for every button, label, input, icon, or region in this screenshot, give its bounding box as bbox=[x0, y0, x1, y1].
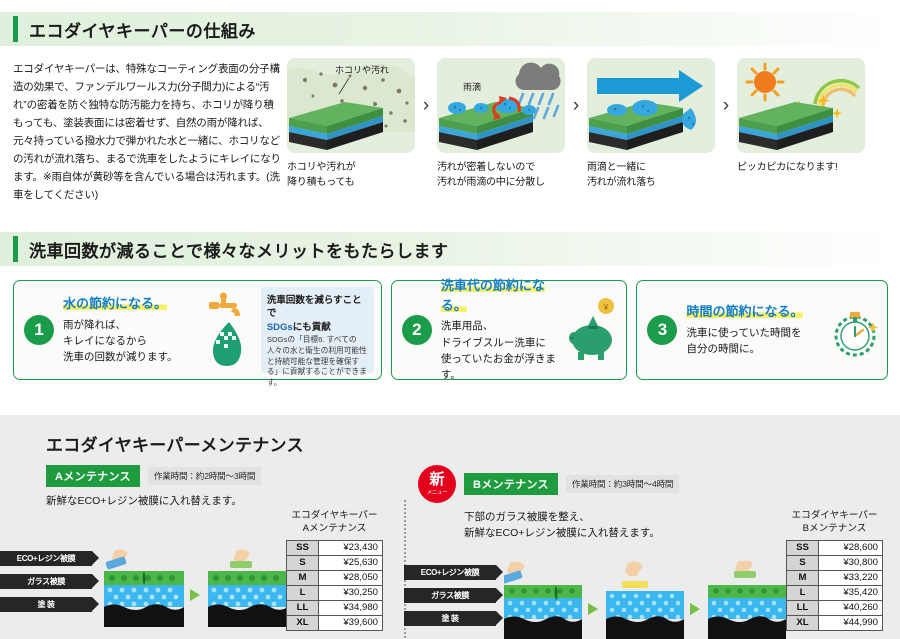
stage-1 bbox=[104, 549, 184, 627]
step-1-caption-line2: 降り積もっても bbox=[287, 175, 415, 190]
step-1-caption: ホコリや汚れが 降り積もっても bbox=[287, 160, 415, 190]
step-4-caption-line1: ピッカピカになります! bbox=[737, 160, 865, 175]
price-cell: ¥23,430 bbox=[319, 540, 383, 555]
maintenance-a-layer-labels: ECO+レジン被膜 ガラス被膜 塗 装 bbox=[0, 551, 92, 620]
maintenance-column-a: Aメンテナンス 作業時間：約2時間～3時間 新鮮なECO+レジン被膜に入れ替えま… bbox=[0, 465, 404, 542]
merit-1-content: 水の節約になる。 雨が降れば、 キレイになるから 洗車の回数が減ります。 bbox=[63, 294, 203, 365]
faucet-icon bbox=[209, 293, 240, 317]
mechanism-body: エコダイヤキーパーは、特殊なコーティング表面の分子構造の効果で、ファンデルワール… bbox=[0, 46, 900, 204]
merit-3-title: 時間の節約になる。 bbox=[686, 304, 803, 319]
layer-label-paint: 塗 装 bbox=[404, 611, 496, 626]
size-cell: XL bbox=[787, 615, 819, 630]
table-row: S¥25,630 bbox=[287, 555, 383, 570]
maintenance-a-diagram bbox=[104, 549, 294, 627]
sdg-body: SDGsの「目標6. すべての人々の水と衛生の利用可能性と持続可能な管理を確保す… bbox=[267, 335, 368, 388]
sdg-callout-box: 洗車回数を減らすことで SDGsにも貢献 SDGsの「目標6. すべての人々の水… bbox=[261, 287, 374, 373]
merits-section: 洗車回数が減ることで様々なメリットをもたらします 1 水の節約になる。 雨が降れ… bbox=[0, 232, 900, 380]
table-row: L¥35,420 bbox=[787, 585, 883, 600]
size-cell: XL bbox=[287, 615, 319, 630]
step-3-caption-line2: 汚れが流れ落ち bbox=[587, 175, 715, 190]
price-cell: ¥34,980 bbox=[319, 600, 383, 615]
table-row: L¥30,250 bbox=[287, 585, 383, 600]
step-4-illustration bbox=[737, 58, 865, 153]
table-row: S¥30,800 bbox=[787, 555, 883, 570]
step-2-caption-line2: 汚れが雨滴の中に分散し bbox=[437, 175, 565, 190]
price-cell: ¥33,220 bbox=[819, 570, 883, 585]
piggy-bank-icon: ¥ bbox=[568, 292, 620, 368]
piggy-body bbox=[569, 316, 612, 360]
price-cell: ¥28,050 bbox=[319, 570, 383, 585]
size-cell: S bbox=[287, 555, 319, 570]
step-1-illustration: ホコリや汚れ bbox=[287, 58, 415, 153]
maintenance-columns: Aメンテナンス 作業時間：約2時間～3時間 新鮮なECO+レジン被膜に入れ替えま… bbox=[0, 456, 900, 542]
rainbow-icon bbox=[815, 81, 859, 108]
chevron-right-icon-3: › bbox=[715, 58, 737, 153]
merit-1-line-1: 雨が降れば、 bbox=[63, 317, 203, 333]
sdg-headline-rest: にも貢献 bbox=[293, 322, 331, 333]
merit-2-title: 洗車代の節約になる。 bbox=[441, 278, 545, 313]
price-table-b-title: エコダイヤキーパー Bメンテナンス bbox=[786, 509, 883, 536]
maintenance-b-tag: Bメンテナンス bbox=[464, 473, 558, 495]
price-table-b-wrap: エコダイヤキーパー Bメンテナンス SS¥28,600 S¥30,800 M¥3… bbox=[786, 509, 883, 631]
mechanism-step-2: 雨滴 汚れが密着しないので 汚れが雨滴の中に分散し bbox=[437, 58, 565, 190]
stage-2 bbox=[606, 562, 684, 639]
size-cell: M bbox=[287, 570, 319, 585]
table-row: SS¥23,430 bbox=[287, 540, 383, 555]
maintenance-b-header: 新 メニュー Bメンテナンス 作業時間：約3時間～4時間 bbox=[418, 465, 900, 503]
stopwatch-icon bbox=[829, 292, 881, 368]
maintenance-section: エコダイヤキーパーメンテナンス Aメンテナンス 作業時間：約2時間～3時間 新鮮… bbox=[0, 415, 900, 639]
step-2-illustration: 雨滴 bbox=[437, 58, 565, 153]
price-cell: ¥30,250 bbox=[319, 585, 383, 600]
price-table-b-title-line1: エコダイヤキーパー bbox=[786, 509, 883, 522]
layer-label-glass: ガラス被膜 bbox=[404, 588, 496, 603]
merit-2-line-3: 使っていたお金が浮きます。 bbox=[441, 351, 569, 384]
price-cell: ¥28,600 bbox=[819, 540, 883, 555]
stage-2 bbox=[208, 549, 288, 627]
merit-2-line-1: 洗車用品、 bbox=[441, 318, 569, 334]
maintenance-b-diagram bbox=[504, 561, 794, 639]
new-badge-sub: メニュー bbox=[427, 488, 447, 496]
merit-1-line-2: キレイになるから bbox=[63, 333, 203, 349]
size-cell: LL bbox=[787, 600, 819, 615]
price-table-a-wrap: エコダイヤキーパー Aメンテナンス SS¥23,430 S¥25,630 M¥2… bbox=[286, 509, 383, 631]
size-cell: M bbox=[787, 570, 819, 585]
size-cell: S bbox=[787, 555, 819, 570]
mechanism-step-4: ピッカピカになります! bbox=[737, 58, 865, 175]
heading-accent-bar bbox=[13, 16, 18, 42]
merit-1-lines: 雨が降れば、 キレイになるから 洗車の回数が減ります。 bbox=[63, 317, 203, 366]
hand-applicator-icon bbox=[734, 561, 756, 578]
stage-3 bbox=[708, 561, 786, 639]
price-cell: ¥35,420 bbox=[819, 585, 883, 600]
step-3-caption: 雨滴と一緒に 汚れが流れ落ち bbox=[587, 160, 715, 190]
price-table-b-title-line2: Bメンテナンス bbox=[786, 522, 883, 535]
merits-heading-text: 洗車回数が減ることで様々なメリットをもたらします bbox=[29, 237, 449, 262]
merit-2-line-2: ドライブスルー洗車に bbox=[441, 335, 569, 351]
product-page: エコダイヤキーパーの仕組み エコダイヤキーパーは、特殊なコーティング表面の分子構… bbox=[0, 0, 900, 639]
merit-2-number: 2 bbox=[402, 315, 432, 345]
table-row: XL¥39,600 bbox=[287, 615, 383, 630]
svg-text:¥: ¥ bbox=[603, 303, 609, 312]
shine-rainbow-illustration bbox=[737, 58, 865, 153]
layer-label-paint: 塗 装 bbox=[0, 597, 92, 612]
merit-1-title: 水の節約になる。 bbox=[63, 296, 167, 311]
price-table-a: SS¥23,430 S¥25,630 M¥28,050 L¥30,250 LL¥… bbox=[286, 540, 383, 631]
table-row: LL¥34,980 bbox=[287, 600, 383, 615]
new-badge-main: 新 bbox=[429, 472, 444, 487]
sdg-label: SDGs bbox=[267, 322, 293, 333]
merit-1-line-3: 洗車の回数が減ります。 bbox=[63, 349, 203, 365]
chevron-right-icon-2: › bbox=[565, 58, 587, 153]
waterdrop-icon bbox=[213, 322, 241, 366]
price-cell: ¥25,630 bbox=[319, 555, 383, 570]
step-1-caption-line1: ホコリや汚れが bbox=[287, 160, 415, 175]
size-cell: L bbox=[787, 585, 819, 600]
faucet-waterdrop-icon bbox=[203, 292, 255, 368]
stage-1 bbox=[504, 562, 582, 639]
new-menu-badge: 新 メニュー bbox=[418, 465, 456, 503]
maintenance-a-worktime: 作業時間：約2時間～3時間 bbox=[148, 467, 262, 485]
table-row: M¥28,050 bbox=[287, 570, 383, 585]
maintenance-title: エコダイヤキーパーメンテナンス bbox=[0, 415, 900, 456]
mechanism-description: エコダイヤキーパーは、特殊なコーティング表面の分子構造の効果で、ファンデルワール… bbox=[13, 58, 281, 204]
price-table-a-title-line2: Aメンテナンス bbox=[286, 522, 383, 535]
hand-applicator-icon bbox=[230, 549, 252, 568]
maintenance-a-tag: Aメンテナンス bbox=[46, 465, 140, 487]
table-row: M¥33,220 bbox=[787, 570, 883, 585]
price-cell: ¥40,260 bbox=[819, 600, 883, 615]
mechanism-heading-bar: エコダイヤキーパーの仕組み bbox=[0, 12, 900, 46]
mechanism-step-3: 雨滴と一緒に 汚れが流れ落ち bbox=[587, 58, 715, 190]
maintenance-b-layer-labels: ECO+レジン被膜 ガラス被膜 塗 装 bbox=[404, 565, 496, 634]
hand-applicator-icon bbox=[105, 549, 128, 569]
price-table-b: SS¥28,600 S¥30,800 M¥33,220 L¥35,420 LL¥… bbox=[786, 540, 883, 631]
step-3-caption-line1: 雨滴と一緒に bbox=[587, 160, 715, 175]
sun-icon bbox=[747, 64, 783, 100]
price-cell: ¥39,600 bbox=[319, 615, 383, 630]
merit-3-number: 3 bbox=[647, 315, 677, 345]
table-row: SS¥28,600 bbox=[787, 540, 883, 555]
maintenance-a-description: 新鮮なECO+レジン被膜に入れ替えます。 bbox=[46, 494, 404, 510]
arrow-right-icon bbox=[190, 589, 200, 601]
mechanism-step-1: ホコリや汚れ ホコリや汚れが 降り積もっても bbox=[287, 58, 415, 190]
hand-applicator-icon bbox=[622, 562, 648, 588]
water-runoff-illustration bbox=[587, 58, 715, 153]
heading-accent-bar bbox=[13, 236, 18, 262]
mechanism-heading-text: エコダイヤキーパーの仕組み bbox=[29, 17, 256, 42]
merit-card-1: 1 水の節約になる。 雨が降れば、 キレイになるから 洗車の回数が減ります。 bbox=[13, 280, 382, 380]
merit-card-2: 2 洗車代の節約になる。 洗車用品、 ドライブスルー洗車に 使っていたお金が浮き… bbox=[391, 280, 628, 380]
table-row: LL¥40,260 bbox=[787, 600, 883, 615]
step-1-callout-label: ホコリや汚れ bbox=[335, 63, 389, 76]
merits-heading-bar: 洗車回数が減ることで様々なメリットをもたらします bbox=[0, 232, 900, 266]
step-2-caption-line1: 汚れが密着しないので bbox=[437, 160, 565, 175]
merit-2-content: 洗車代の節約になる。 洗車用品、 ドライブスルー洗車に 使っていたお金が浮きます… bbox=[441, 276, 569, 383]
arrow-right-icon-2 bbox=[690, 603, 700, 615]
price-table-a-title-line1: エコダイヤキーパー bbox=[286, 509, 383, 522]
layer-label-glass: ガラス被膜 bbox=[0, 574, 92, 589]
merit-card-3: 3 時間の節約になる。 洗車に使っていた時間を 自分の時間に。 bbox=[636, 280, 888, 380]
price-cell: ¥44,990 bbox=[819, 615, 883, 630]
size-cell: SS bbox=[287, 540, 319, 555]
mechanism-steps: ホコリや汚れ ホコリや汚れが 降り積もっても › bbox=[287, 58, 865, 204]
table-row: XL¥44,990 bbox=[787, 615, 883, 630]
maintenance-a-desc-line1: 新鮮なECO+レジン被膜に入れ替えます。 bbox=[46, 494, 404, 510]
step-2-caption: 汚れが密着しないので 汚れが雨滴の中に分散し bbox=[437, 160, 565, 190]
step-3-illustration bbox=[587, 58, 715, 153]
step-4-caption: ピッカピカになります! bbox=[737, 160, 865, 175]
merit-2-lines: 洗車用品、 ドライブスルー洗車に 使っていたお金が浮きます。 bbox=[441, 318, 569, 383]
maintenance-a-header: Aメンテナンス 作業時間：約2時間～3時間 bbox=[46, 465, 404, 487]
arrow-right-icon-1 bbox=[588, 603, 598, 615]
size-cell: SS bbox=[787, 540, 819, 555]
merit-cards: 1 水の節約になる。 雨が降れば、 キレイになるから 洗車の回数が減ります。 bbox=[0, 266, 900, 380]
price-table-a-title: エコダイヤキーパー Aメンテナンス bbox=[286, 509, 383, 536]
hand-applicator-icon bbox=[504, 562, 525, 584]
merit-3-line-2: 自分の時間に。 bbox=[686, 341, 829, 357]
size-cell: L bbox=[287, 585, 319, 600]
layer-label-eco: ECO+レジン被膜 bbox=[0, 551, 92, 566]
maintenance-b-worktime: 作業時間：約3時間～4時間 bbox=[566, 475, 680, 493]
size-cell: LL bbox=[287, 600, 319, 615]
merit-3-line-1: 洗車に使っていた時間を bbox=[686, 325, 829, 341]
rain-dispersion-illustration bbox=[437, 58, 565, 153]
sdg-headline: 洗車回数を減らすことで SDGsにも貢献 bbox=[267, 294, 368, 334]
mechanism-section: エコダイヤキーパーの仕組み エコダイヤキーパーは、特殊なコーティング表面の分子構… bbox=[0, 12, 900, 204]
chevron-right-icon-1: › bbox=[415, 58, 437, 153]
merit-1-number: 1 bbox=[24, 315, 54, 345]
merit-3-lines: 洗車に使っていた時間を 自分の時間に。 bbox=[686, 325, 829, 358]
maintenance-column-b: 新 メニュー Bメンテナンス 作業時間：約3時間～4時間 下部のガラス被膜を整え… bbox=[404, 465, 900, 542]
sdg-headline-line1: 洗車回数を減らすことで bbox=[267, 294, 368, 321]
merit-3-content: 時間の節約になる。 洗車に使っていた時間を 自分の時間に。 bbox=[686, 302, 829, 357]
price-cell: ¥30,800 bbox=[819, 555, 883, 570]
layer-label-eco: ECO+レジン被膜 bbox=[404, 565, 496, 580]
step-2-callout-label: 雨滴 bbox=[463, 80, 481, 93]
